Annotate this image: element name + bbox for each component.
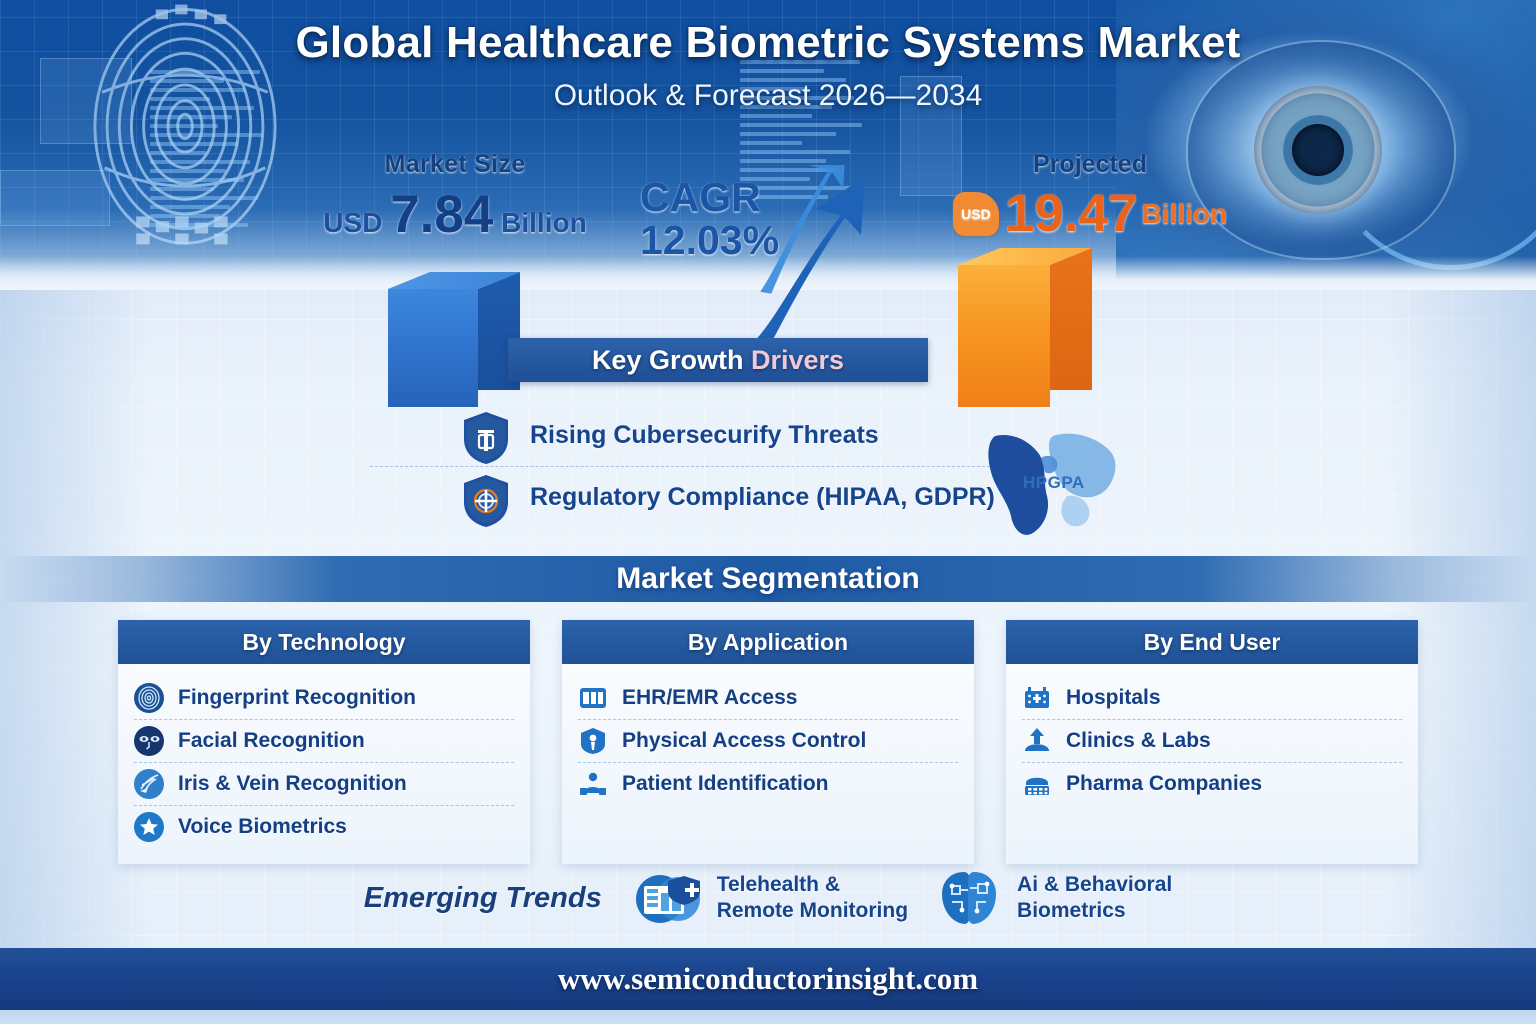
card-title: By End User <box>1144 629 1281 656</box>
projected-unit: Billion <box>1142 198 1228 230</box>
projected-label: Projected <box>890 150 1290 179</box>
key-growth-drivers-list: Rising Cubersecurify Threats Regulatory … <box>370 404 1010 528</box>
list-item[interactable]: Patient Identification <box>578 762 958 805</box>
list-item-label: Physical Access Control <box>622 729 866 753</box>
trend-label-line2: Remote Monitoring <box>717 899 908 922</box>
pharma-icon <box>1022 769 1052 799</box>
voice-star-circle-icon <box>134 812 164 842</box>
face-circle-icon <box>134 726 164 756</box>
infographic-canvas: Global Healthcare Biometric Systems Mark… <box>0 0 1536 1024</box>
ai-brain-icon <box>934 866 1004 930</box>
records-icon <box>578 683 608 713</box>
segmentation-cards: By Technology Fingerprint Recognition <box>0 620 1536 864</box>
page-title: Global Healthcare Biometric Systems Mark… <box>0 18 1536 68</box>
compliance-map-label: HPGPA <box>1023 473 1085 493</box>
segmentation-card-technology: By Technology Fingerprint Recognition <box>118 620 530 864</box>
kpi-market-size: Market Size USD 7.84 Billion <box>290 150 620 245</box>
market-segmentation-title: Market Segmentation <box>616 562 919 596</box>
list-item[interactable]: Clinics & Labs <box>1022 719 1402 762</box>
list-item-label: Clinics & Labs <box>1066 729 1211 753</box>
key-growth-drivers-banner: Key Growth Drivers <box>508 338 928 382</box>
kpi-projected: Projected USD 19.47 Billion <box>890 150 1290 244</box>
clinic-lab-icon <box>1022 726 1052 756</box>
telehealth-icon <box>634 866 704 930</box>
kgd-title-part1: Key Growth <box>592 345 751 375</box>
page-subtitle: Outlook & Forecast 2026—2034 <box>0 79 1536 113</box>
patient-id-icon <box>578 769 608 799</box>
card-list: EHR/EMR Access Physical Access Control <box>562 664 974 821</box>
footer-bottom-strip <box>0 1010 1536 1024</box>
trend-label-line1: Telehealth & <box>717 873 840 896</box>
list-item-label: Patient Identification <box>622 772 829 796</box>
card-title: By Application <box>688 629 848 656</box>
list-item-label: Pharma Companies <box>1066 772 1262 796</box>
list-item[interactable]: Hospitals <box>1022 676 1402 719</box>
list-item[interactable]: EHR/EMR Access <box>578 676 958 719</box>
fingerprint-circle-icon <box>134 683 164 713</box>
card-header: By End User <box>1006 620 1418 664</box>
key-growth-drivers-title: Key Growth Drivers <box>592 345 844 376</box>
list-item[interactable]: Fingerprint Recognition <box>134 676 514 719</box>
driver-row: Rising Cubersecurify Threats <box>370 404 1010 466</box>
trend-label: Telehealth & Remote Monitoring <box>717 872 908 923</box>
emerging-trends-row: Emerging Trends Telehealth & <box>0 852 1536 944</box>
compliance-map-badge: HPGPA <box>985 430 1135 540</box>
footer-bar: www.semiconductorinsight.com <box>0 948 1536 1010</box>
kgd-title-part2: Drivers <box>751 345 844 375</box>
list-item[interactable]: Facial Recognition <box>134 719 514 762</box>
trend-label-line2: Biometrics <box>1017 899 1126 922</box>
market-size-value: USD 7.84 Billion <box>290 184 620 245</box>
footer-url[interactable]: www.semiconductorinsight.com <box>558 961 978 997</box>
iris-vein-circle-icon <box>134 769 164 799</box>
market-size-unit: Billion <box>501 207 587 238</box>
driver-label: Regulatory Compliance (HIPAA, GDPR) <box>530 483 995 512</box>
segmentation-card-application: By Application EHR/EMR Access <box>562 620 974 864</box>
market-size-number: 7.84 <box>390 185 493 244</box>
list-item-label: EHR/EMR Access <box>622 686 797 710</box>
projected-value: USD 19.47 Billion <box>890 183 1290 244</box>
list-item-label: Hospitals <box>1066 686 1161 710</box>
growth-arrow-icon <box>745 165 875 355</box>
trend-item[interactable]: Ai & Behavioral Biometrics <box>934 866 1172 930</box>
shield-compliance-icon <box>462 474 510 528</box>
market-segmentation-band: Market Segmentation <box>0 556 1536 602</box>
market-size-label: Market Size <box>290 150 620 179</box>
list-item-label: Voice Biometrics <box>178 815 347 839</box>
usd-badge-icon: USD <box>953 192 999 236</box>
driver-row: Regulatory Compliance (HIPAA, GDPR) <box>370 466 1010 528</box>
market-size-currency: USD <box>323 207 382 238</box>
card-header: By Application <box>562 620 974 664</box>
list-item[interactable]: Pharma Companies <box>1022 762 1402 805</box>
card-list: Hospitals Clinics & Labs <box>1006 664 1418 821</box>
projected-number: 19.47 <box>1005 183 1138 244</box>
shield-lock-icon <box>462 411 510 465</box>
card-title: By Technology <box>242 629 405 656</box>
list-item[interactable]: Physical Access Control <box>578 719 958 762</box>
driver-label: Rising Cubersecurify Threats <box>530 421 879 450</box>
trend-item[interactable]: Telehealth & Remote Monitoring <box>634 866 908 930</box>
card-header: By Technology <box>118 620 530 664</box>
card-list: Fingerprint Recognition Facial Recogniti… <box>118 664 530 864</box>
trend-label: Ai & Behavioral Biometrics <box>1017 872 1172 923</box>
list-item-label: Iris & Vein Recognition <box>178 772 407 796</box>
list-item-label: Fingerprint Recognition <box>178 686 416 710</box>
emerging-trends-label: Emerging Trends <box>364 882 602 915</box>
list-item[interactable]: Voice Biometrics <box>134 805 514 848</box>
trend-label-line1: Ai & Behavioral <box>1017 873 1172 896</box>
list-item[interactable]: Iris & Vein Recognition <box>134 762 514 805</box>
access-shield-icon <box>578 726 608 756</box>
hospital-icon <box>1022 683 1052 713</box>
list-item-label: Facial Recognition <box>178 729 365 753</box>
segmentation-card-end-user: By End User Hospitals <box>1006 620 1418 864</box>
